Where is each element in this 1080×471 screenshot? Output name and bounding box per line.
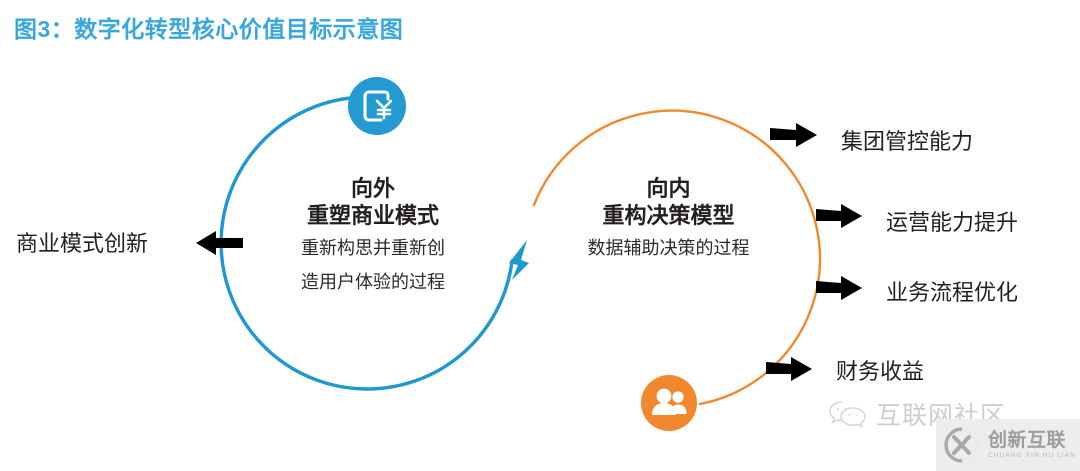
wechat-icon [828, 399, 868, 429]
left-cycle-label: 向外 重塑商业模式 重新构思并重新创 造用户体验的过程 [268, 176, 478, 297]
left-cycle-heading-1: 向外 [268, 176, 478, 202]
outcome-arrow-0 [770, 123, 817, 147]
brand-watermark-cn: 创新互联 [988, 431, 1076, 450]
right-cycle-heading-2: 重构决策模型 [556, 203, 781, 229]
figure-canvas: 图3：数字化转型核心价值目标示意图 [0, 0, 1080, 471]
left-outcome-arrow [196, 231, 243, 255]
right-outcome-label-3: 财务收益 [836, 354, 924, 386]
right-outcome-label-1: 运营能力提升 [886, 205, 1018, 237]
users-badge [641, 375, 697, 431]
left-cycle-heading-2: 重塑商业模式 [268, 203, 478, 229]
mobile-payment-badge [348, 77, 406, 135]
left-cycle-desc-1: 重新构思并重新创 [268, 235, 478, 263]
left-outcome-label: 商业模式创新 [16, 226, 148, 258]
chuangxin-x-logo-icon [942, 425, 982, 465]
outcome-arrow-2 [816, 276, 862, 300]
brand-watermark-en: CHUANG XIN HU LIAN [988, 453, 1076, 460]
brand-watermark: 创新互联 CHUANG XIN HU LIAN [936, 419, 1080, 471]
left-cycle-arrowhead [509, 240, 529, 280]
outcome-arrow-1 [816, 204, 862, 228]
right-outcome-label-2: 业务流程优化 [886, 275, 1018, 307]
right-outcome-label-0: 集团管控能力 [841, 124, 973, 156]
outcome-arrow-3 [766, 357, 812, 381]
right-cycle-heading-1: 向内 [556, 176, 781, 202]
right-cycle-label: 向内 重构决策模型 数据辅助决策的过程 [556, 176, 781, 263]
left-cycle-desc-2: 造用户体验的过程 [268, 269, 478, 297]
right-cycle-desc-1: 数据辅助决策的过程 [556, 235, 781, 263]
brand-watermark-name: 创新互联 CHUANG XIN HU LIAN [988, 431, 1076, 460]
